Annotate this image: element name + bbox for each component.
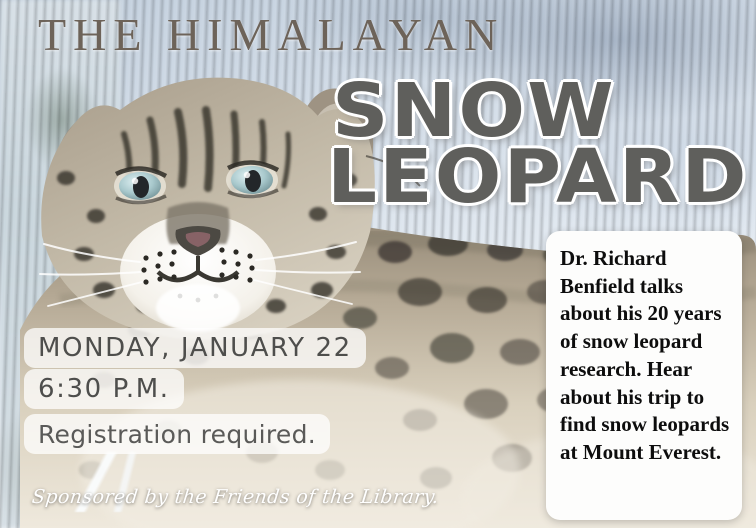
event-poster: THE HIMALAYAN SNOW LEOPARD MONDAY, JANUA… — [0, 0, 756, 528]
title-himalayan: THE HIMALAYAN — [38, 12, 504, 58]
registration-band: Registration required. — [24, 414, 330, 454]
event-time-band: 6:30 P.M. — [24, 369, 184, 409]
event-date-band: MONDAY, JANUARY 22 — [24, 328, 366, 368]
sponsor-line: Sponsored by the Friends of the Library. — [31, 486, 440, 508]
event-time-text: 6:30 P.M. — [38, 374, 170, 404]
registration-text: Registration required. — [38, 420, 316, 449]
description-card: Dr. Richard Benfield talks about his 20 … — [546, 231, 742, 520]
title-leopard: LEOPARD — [327, 140, 749, 214]
event-date-text: MONDAY, JANUARY 22 — [38, 333, 352, 363]
